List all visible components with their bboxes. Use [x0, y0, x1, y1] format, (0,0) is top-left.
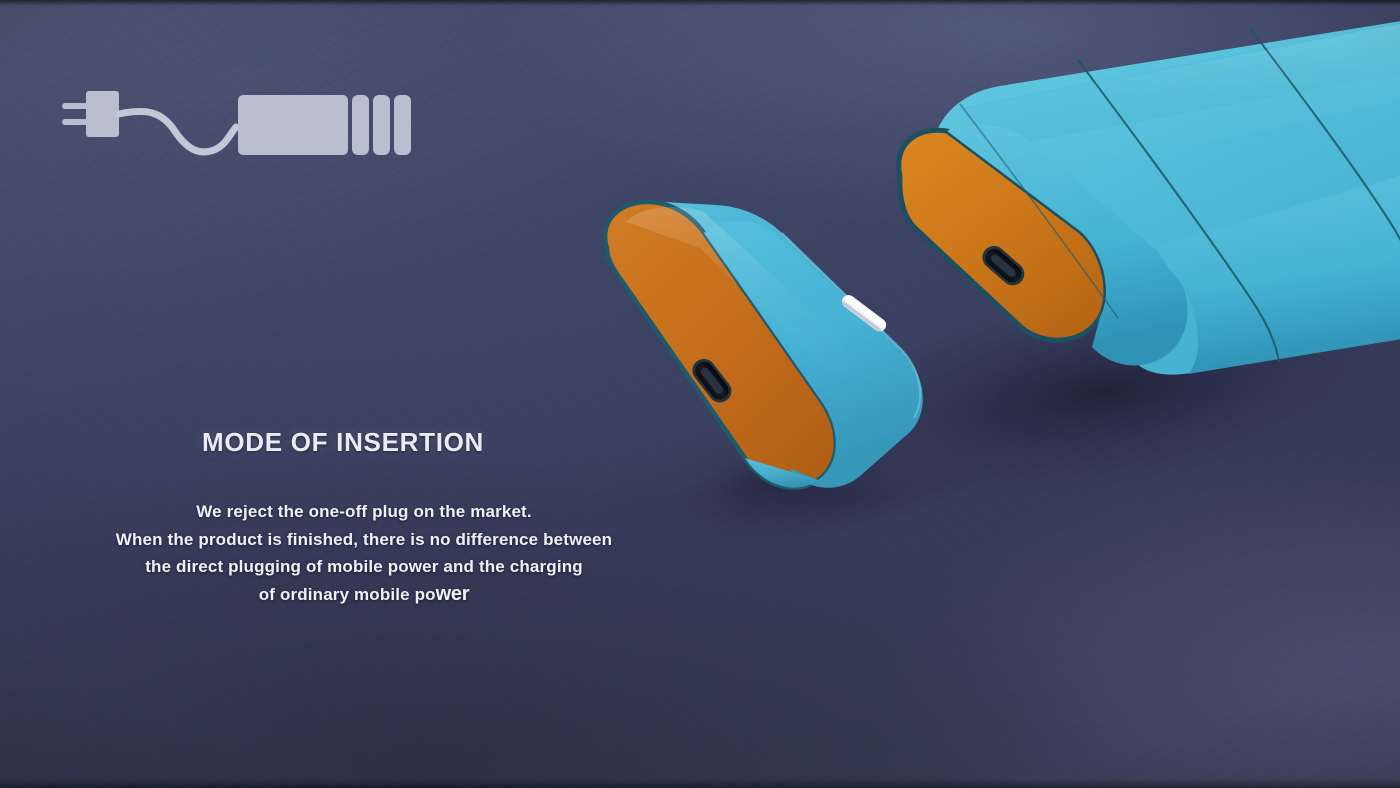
plug-head: [86, 91, 119, 137]
slide-canvas: MODE OF INSERTION We reject the one-off …: [0, 0, 1400, 788]
adapter-fin-3: [394, 95, 411, 155]
bottom-edge-shade: [0, 778, 1400, 788]
description-line-4: of ordinary mobile power: [0, 581, 728, 609]
description-line-1: We reject the one-off plug on the market…: [0, 498, 728, 526]
cable: [119, 111, 236, 152]
adapter-fin-2: [373, 95, 390, 155]
description-line-4-text: of ordinary mobile po: [259, 585, 436, 604]
page-title: MODE OF INSERTION: [202, 427, 484, 458]
description-line-4-fragment: wer: [436, 583, 470, 605]
charger-plug-adapter-icon: [58, 78, 438, 188]
plug-prong-top: [62, 103, 88, 109]
adapter-brick: [238, 95, 348, 155]
adapter-fin-1: [352, 95, 369, 155]
description-line-2: When the product is finished, there is n…: [0, 526, 728, 554]
top-edge-shade: [0, 0, 1400, 6]
plug-prong-bottom: [62, 119, 88, 125]
description-line-3: the direct plugging of mobile power and …: [0, 553, 728, 581]
description-paragraph: We reject the one-off plug on the market…: [0, 498, 728, 608]
